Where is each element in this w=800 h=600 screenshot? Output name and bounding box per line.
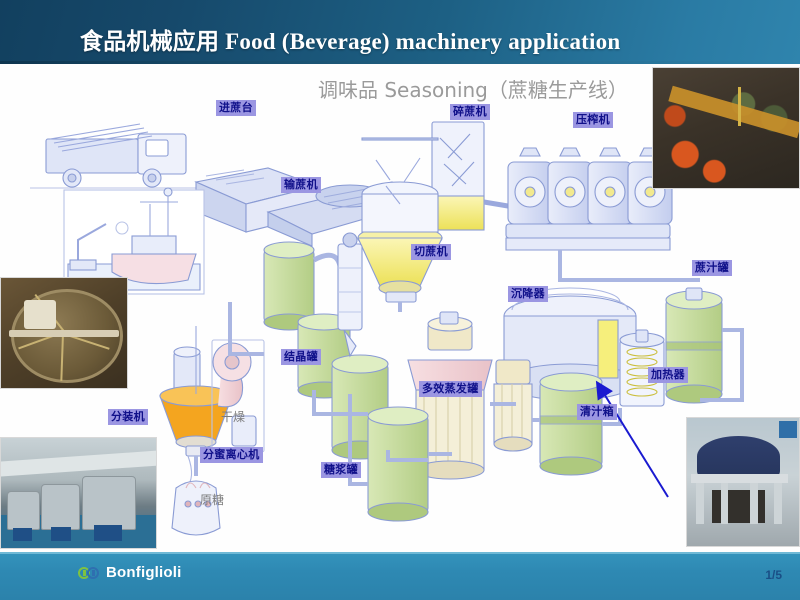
page-number: 1/5 [765,568,782,582]
diagram-label: 蔗汁罐 [692,260,732,276]
diagram-label: 输蔗机 [281,177,321,193]
juice-mixing-column-illustration [362,138,438,232]
diagram-label: 干燥 [221,408,245,425]
slide-header: 食品机械应用 Food (Beverage) machinery applica… [0,0,800,64]
diagram-label: 加热器 [648,367,688,383]
slide-footer: Bonfiglioli 1/5 [0,552,800,600]
photo-cooling-tower [686,417,800,547]
diagram-label: 进蔗台 [216,100,256,116]
diagram-label: 沉降器 [508,286,548,302]
diagram-label: 多效蒸发罐 [419,381,482,397]
brand-name: Bonfiglioli [106,564,182,581]
diagram-label: 结晶罐 [281,349,321,365]
photo-extractor-drum [0,277,128,389]
cane-juice-tank-illustration [666,288,742,403]
diagram-label: 压榨机 [573,112,613,128]
diagram-label: 切蔗机 [411,244,451,260]
diagram-label: 分装机 [108,409,148,425]
cane-truck-illustration [30,124,200,188]
page-title: 食品机械应用 Food (Beverage) machinery applica… [80,22,620,56]
photo-centrifuge-row [0,437,157,549]
brand-block: Bonfiglioli [78,564,182,581]
cane-cutter-bowl-illustration [358,226,442,302]
diagram-label: 分蜜离心机 [200,447,263,463]
diagram-label: 碎蔗机 [450,104,490,120]
slide-body: 调味品 Seasoning（蔗糖生产线） [0,64,800,552]
diagram-label: 糖浆罐 [321,462,361,478]
diagram-label: 原糖 [200,491,224,508]
slide-root: 食品机械应用 Food (Beverage) machinery applica… [0,0,800,600]
cane-shredder-illustration [432,122,520,230]
bonfiglioli-gear-logo-icon [78,565,100,581]
clear-juice-tank-illustration [540,373,602,475]
diagram-label: 清汁箱 [577,404,617,420]
photo-mill-hall [652,67,800,189]
